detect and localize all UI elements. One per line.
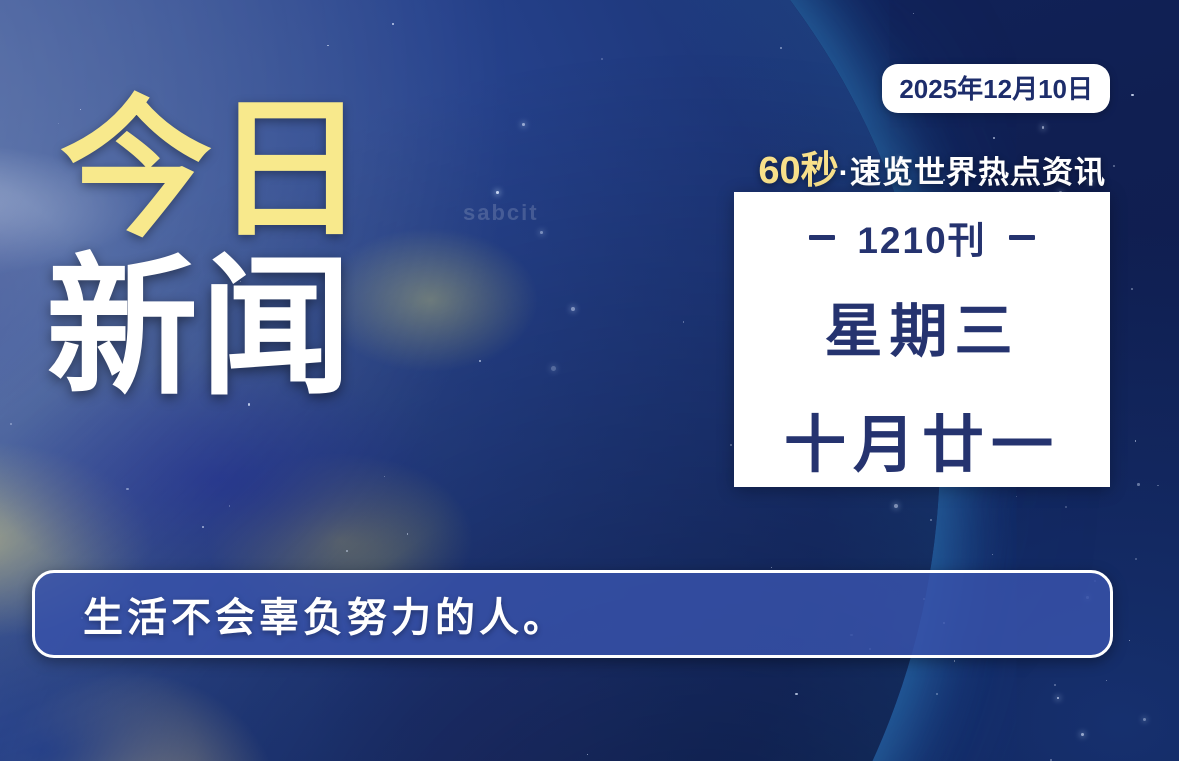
news-poster: sabcit 今日 新闻 2025年12月10日 60秒·速览世界热点资讯 12… — [0, 0, 1179, 761]
tagline: 60秒·速览世界热点资讯 — [758, 139, 1106, 194]
date-badge: 2025年12月10日 — [882, 64, 1110, 113]
dash-left-icon — [809, 235, 835, 240]
lunar-date-label: 十月廿一 — [784, 394, 1060, 484]
quote-bar: 生活不会辜负努力的人。 — [32, 570, 1113, 658]
weekday-label: 星期三 — [824, 284, 1019, 368]
issue-number-row: 1210刊 — [809, 210, 1034, 264]
tagline-seconds: 60秒 — [758, 150, 838, 192]
issue-number: 1210刊 — [857, 210, 986, 264]
dash-right-icon — [1009, 235, 1035, 240]
quote-text: 生活不会辜负努力的人。 — [83, 585, 567, 643]
page-title: 今日 新闻 — [46, 98, 476, 402]
issue-card: 1210刊 星期三 十月廿一 — [734, 192, 1110, 487]
tagline-description: ·速览世界热点资讯 — [839, 155, 1106, 190]
title-line-today: 今日 — [60, 98, 476, 244]
title-line-news: 新闻 — [46, 256, 476, 402]
